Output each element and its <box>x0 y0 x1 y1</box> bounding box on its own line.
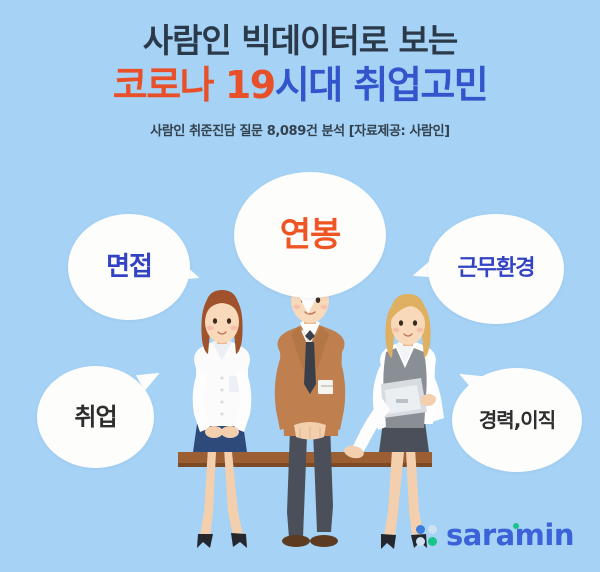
saramin-logo[interactable]: saramin <box>416 521 574 550</box>
title-line-1: 사람인 빅데이터로 보는 <box>0 20 600 62</box>
bubble-label-career: 경력,이직 <box>479 410 555 430</box>
person-right <box>343 294 444 549</box>
bubble-label-interview: 면접 <box>106 254 152 280</box>
logo-dot-2 <box>428 525 437 534</box>
logo-i-dot-icon <box>513 523 519 529</box>
logo-dot-1 <box>416 525 425 534</box>
title-segment-covid: 코로나 19 <box>113 63 275 107</box>
logo-wordmark-text: saramin <box>446 518 574 552</box>
speech-bubble-interview[interactable]: 면접 <box>68 214 190 320</box>
logo-wordmark: saramin <box>446 521 574 550</box>
speech-bubble-salary[interactable]: 연봉 <box>234 172 386 298</box>
logo-dot-3 <box>416 537 425 546</box>
header: 사람인 빅데이터로 보는 코로나 19시대 취업고민 사람인 취준진담 질문 8… <box>0 0 600 139</box>
person-left <box>193 290 252 548</box>
logo-dots-icon <box>416 525 437 546</box>
speech-bubble-employment[interactable]: 취업 <box>37 366 154 468</box>
logo-dot-4 <box>428 537 437 546</box>
subtitle-source: 사람인 취준진담 질문 8,089건 분석 [자료제공: 사람인] <box>0 120 600 139</box>
bubble-label-employment: 취업 <box>74 405 116 429</box>
title-segment-jobworry: 시대 취업고민 <box>275 63 488 107</box>
bubble-label-salary: 연봉 <box>280 218 341 252</box>
speech-bubble-work-environment[interactable]: 근무환경 <box>428 214 564 324</box>
speech-bubble-career[interactable]: 경력,이직 <box>452 368 582 472</box>
bubble-label-work-environment: 근무환경 <box>458 258 535 280</box>
infographic-root: 사람인 빅데이터로 보는 코로나 19시대 취업고민 사람인 취준진담 질문 8… <box>0 0 600 572</box>
title-line-2: 코로나 19시대 취업고민 <box>0 62 600 108</box>
